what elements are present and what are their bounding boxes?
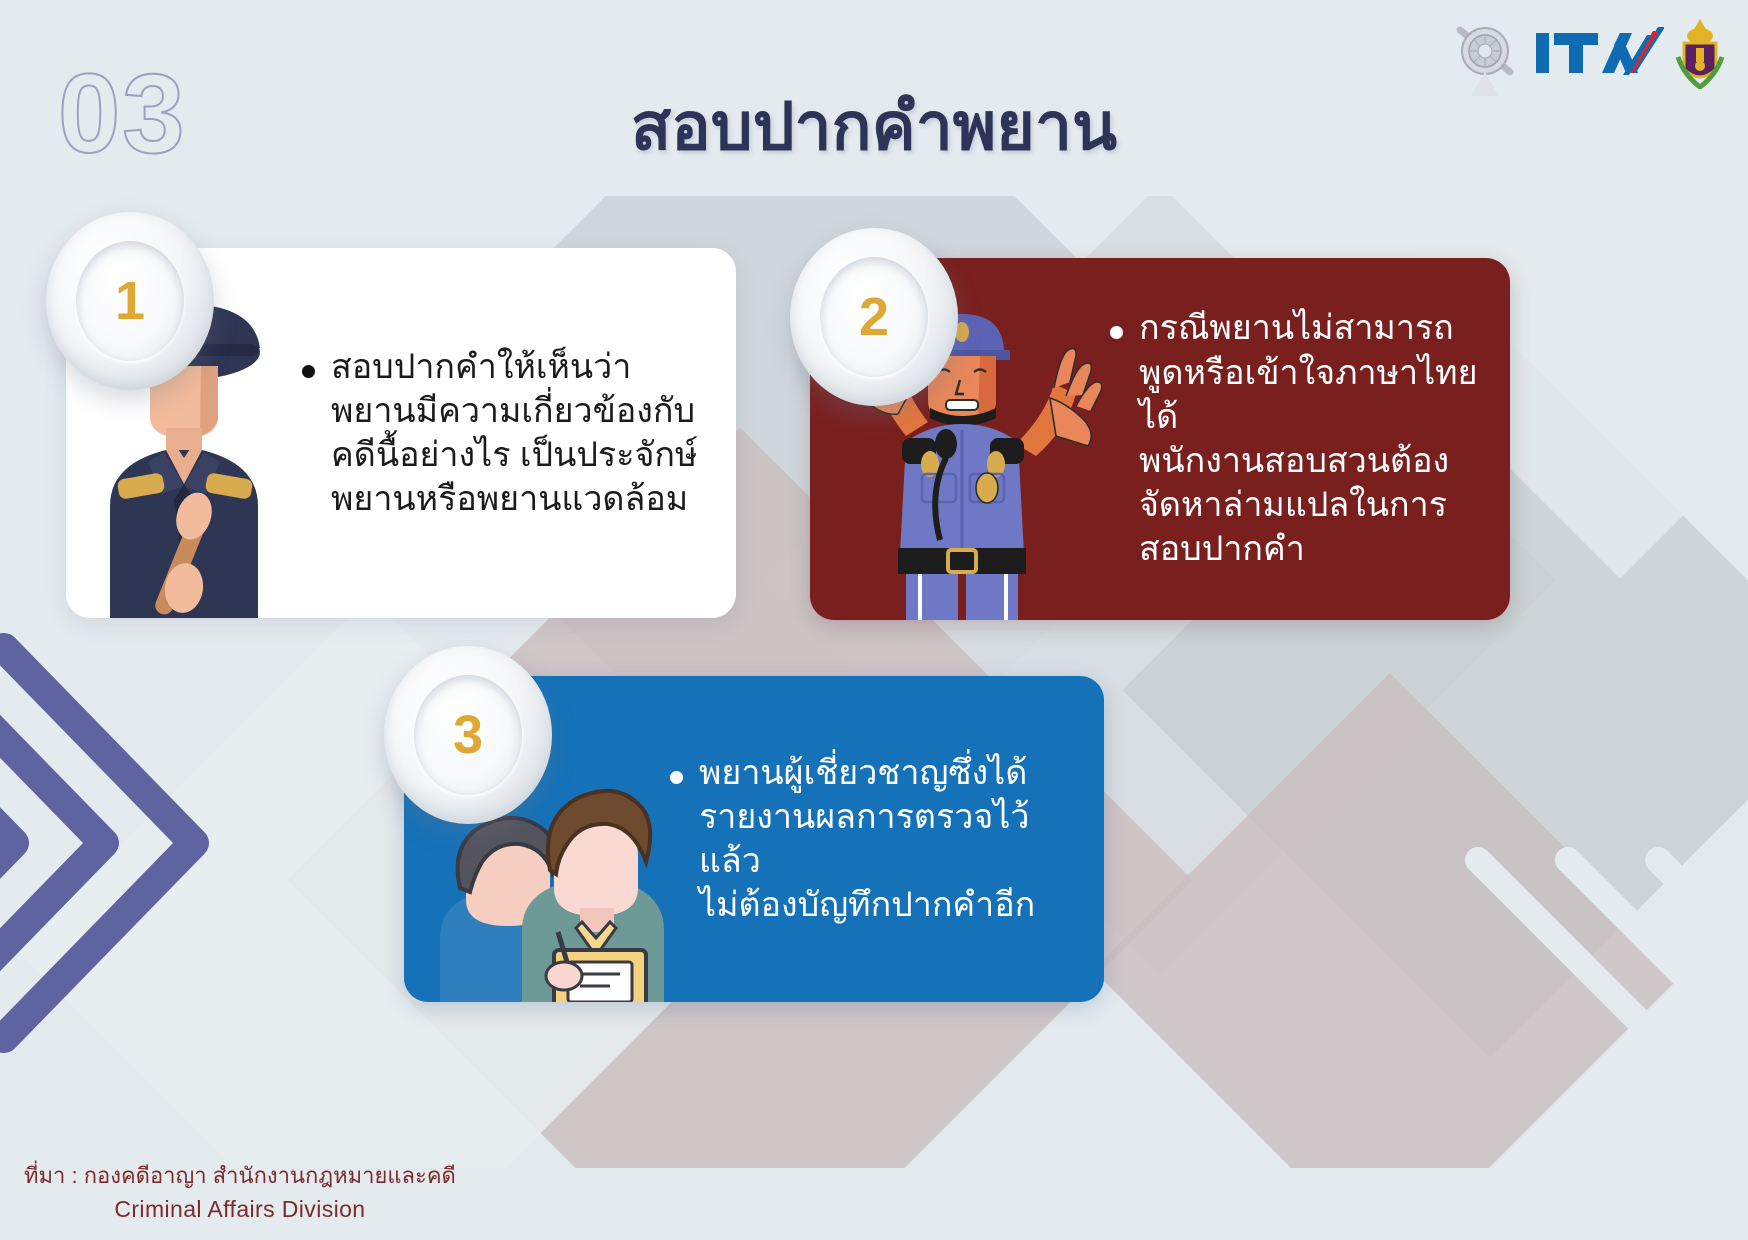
card-2-lines: กรณีพยานไม่สามารถ พูดหรือเข้าใจภาษาไทยได… [1139,306,1484,571]
card-1-line-1: สอบปากคำให้เห็นว่า [331,345,697,389]
card-1-lines: สอบปากคำให้เห็นว่า พยานมีความเกี่ยวข้องก… [331,345,697,522]
chevron-left-decoration-icon [0,618,234,1088]
card-1-line-4: พยานหรือพยานแวดล้อม [331,477,697,521]
card-3-line-1: พยานผู้เชี่ยวชาญซึ่งได้ [699,751,1078,795]
card-3-lines: พยานผู้เชี่ยวชาญซึ่งได้ รายงานผลการตรวจไ… [699,751,1078,928]
step-badge-1: 1 [46,212,214,390]
card-2-line-2: พูดหรือเข้าใจภาษาไทยได้ [1139,351,1484,439]
card-1-text: สอบปากคำให้เห็นว่า พยานมีความเกี่ยวข้องก… [302,345,736,522]
step-badge-1-number: 1 [115,274,145,328]
background-decoration [0,0,1748,1240]
source-footer: ที่มา : กองคดีอาญา สำนักงานกฎหมายและคดี … [24,1159,456,1227]
card-3-line-3: ไม่ต้องบัญทึกปากคำอีก [699,883,1078,927]
slide-root: 03 สอบปากคำพยาน [0,0,1748,1240]
card-2-line-3: พนักงานสอบสวนต้อง [1139,439,1484,483]
source-footer-english: Criminal Affairs Division [24,1192,456,1227]
step-badge-3-number: 3 [453,708,483,762]
step-badge-2-inner: 2 [820,257,928,377]
royal-thai-police-seal-logo [1446,10,1524,96]
card-1-line-2: พยานมีความเกี่ยวข้องกับ [331,389,697,433]
card-2-line-4: จัดหาล่ามแปลในการ [1139,483,1484,527]
card-2-text: กรณีพยานไม่สามารถ พูดหรือเข้าใจภาษาไทยได… [1110,306,1510,571]
bullet-point-icon [670,771,683,784]
step-badge-3: 3 [384,646,552,824]
chevron-right-decoration-icon [1458,840,1748,1240]
bullet-point-icon [302,365,315,378]
card-3-text: พยานผู้เชี่ยวชาญซึ่งได้ รายงานผลการตรวจไ… [670,751,1104,928]
logo-group [1446,10,1726,96]
card-2-line-1: กรณีพยานไม่สามารถ [1139,306,1484,350]
ita-logo [1534,25,1664,81]
card-2-line-5: สอบปากคำ [1139,527,1484,571]
step-badge-2-number: 2 [859,290,889,344]
card-1-line-3: คดีนื้อย่างไร เป็นประจักษ์ [331,433,697,477]
bullet-point-icon [1110,326,1123,339]
emblem-logo [1674,17,1726,89]
step-badge-2: 2 [790,228,958,406]
step-badge-3-inner: 3 [414,675,522,795]
source-footer-thai: ที่มา : กองคดีอาญา สำนักงานกฎหมายและคดี [24,1159,456,1192]
step-badge-1-inner: 1 [76,241,184,361]
card-3-line-2: รายงานผลการตรวจไว้แล้ว [699,795,1078,883]
background-diamond-shape [1093,673,1687,1240]
